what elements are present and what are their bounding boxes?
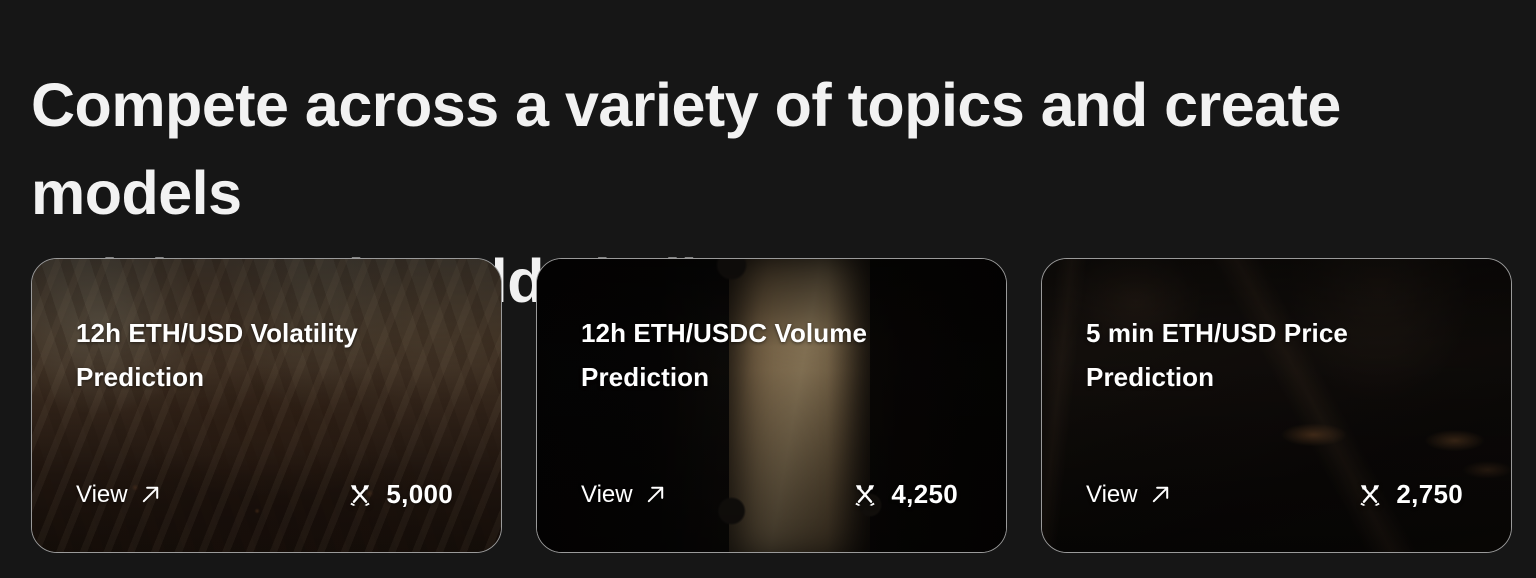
card-footer: View — [76, 479, 457, 510]
view-link[interactable]: View — [581, 481, 667, 509]
card-footer: View — [1086, 479, 1467, 510]
view-link[interactable]: View — [1086, 481, 1172, 509]
card-body: 12h ETH/USD Volatility Prediction View — [32, 259, 501, 552]
points-badge: 4,250 — [852, 479, 958, 510]
competition-card-list: 12h ETH/USD Volatility Prediction View — [31, 258, 1512, 553]
points-badge: 5,000 — [347, 479, 453, 510]
competition-card[interactable]: 5 min ETH/USD Price Prediction View — [1041, 258, 1512, 553]
competition-card[interactable]: 12h ETH/USD Volatility Prediction View — [31, 258, 502, 553]
card-title: 5 min ETH/USD Price Prediction — [1086, 311, 1416, 399]
competition-card[interactable]: 12h ETH/USDC Volume Prediction View — [536, 258, 1007, 553]
crossed-hammers-icon — [1357, 482, 1383, 508]
page-root: Compete across a variety of topics and c… — [0, 0, 1536, 578]
card-title: 12h ETH/USD Volatility Prediction — [76, 311, 406, 399]
points-badge: 2,750 — [1357, 479, 1463, 510]
points-value: 2,750 — [1396, 479, 1463, 510]
view-link-label: View — [581, 481, 633, 509]
arrow-up-right-icon — [644, 483, 667, 506]
crossed-hammers-icon — [347, 482, 373, 508]
card-footer: View — [581, 479, 962, 510]
card-body: 12h ETH/USDC Volume Prediction View — [537, 259, 1006, 552]
arrow-up-right-icon — [139, 483, 162, 506]
points-value: 4,250 — [891, 479, 958, 510]
points-value: 5,000 — [386, 479, 453, 510]
card-body: 5 min ETH/USD Price Prediction View — [1042, 259, 1511, 552]
view-link-label: View — [1086, 481, 1138, 509]
arrow-up-right-icon — [1149, 483, 1172, 506]
view-link-label: View — [76, 481, 128, 509]
card-title: 12h ETH/USDC Volume Prediction — [581, 311, 911, 399]
view-link[interactable]: View — [76, 481, 162, 509]
crossed-hammers-icon — [852, 482, 878, 508]
